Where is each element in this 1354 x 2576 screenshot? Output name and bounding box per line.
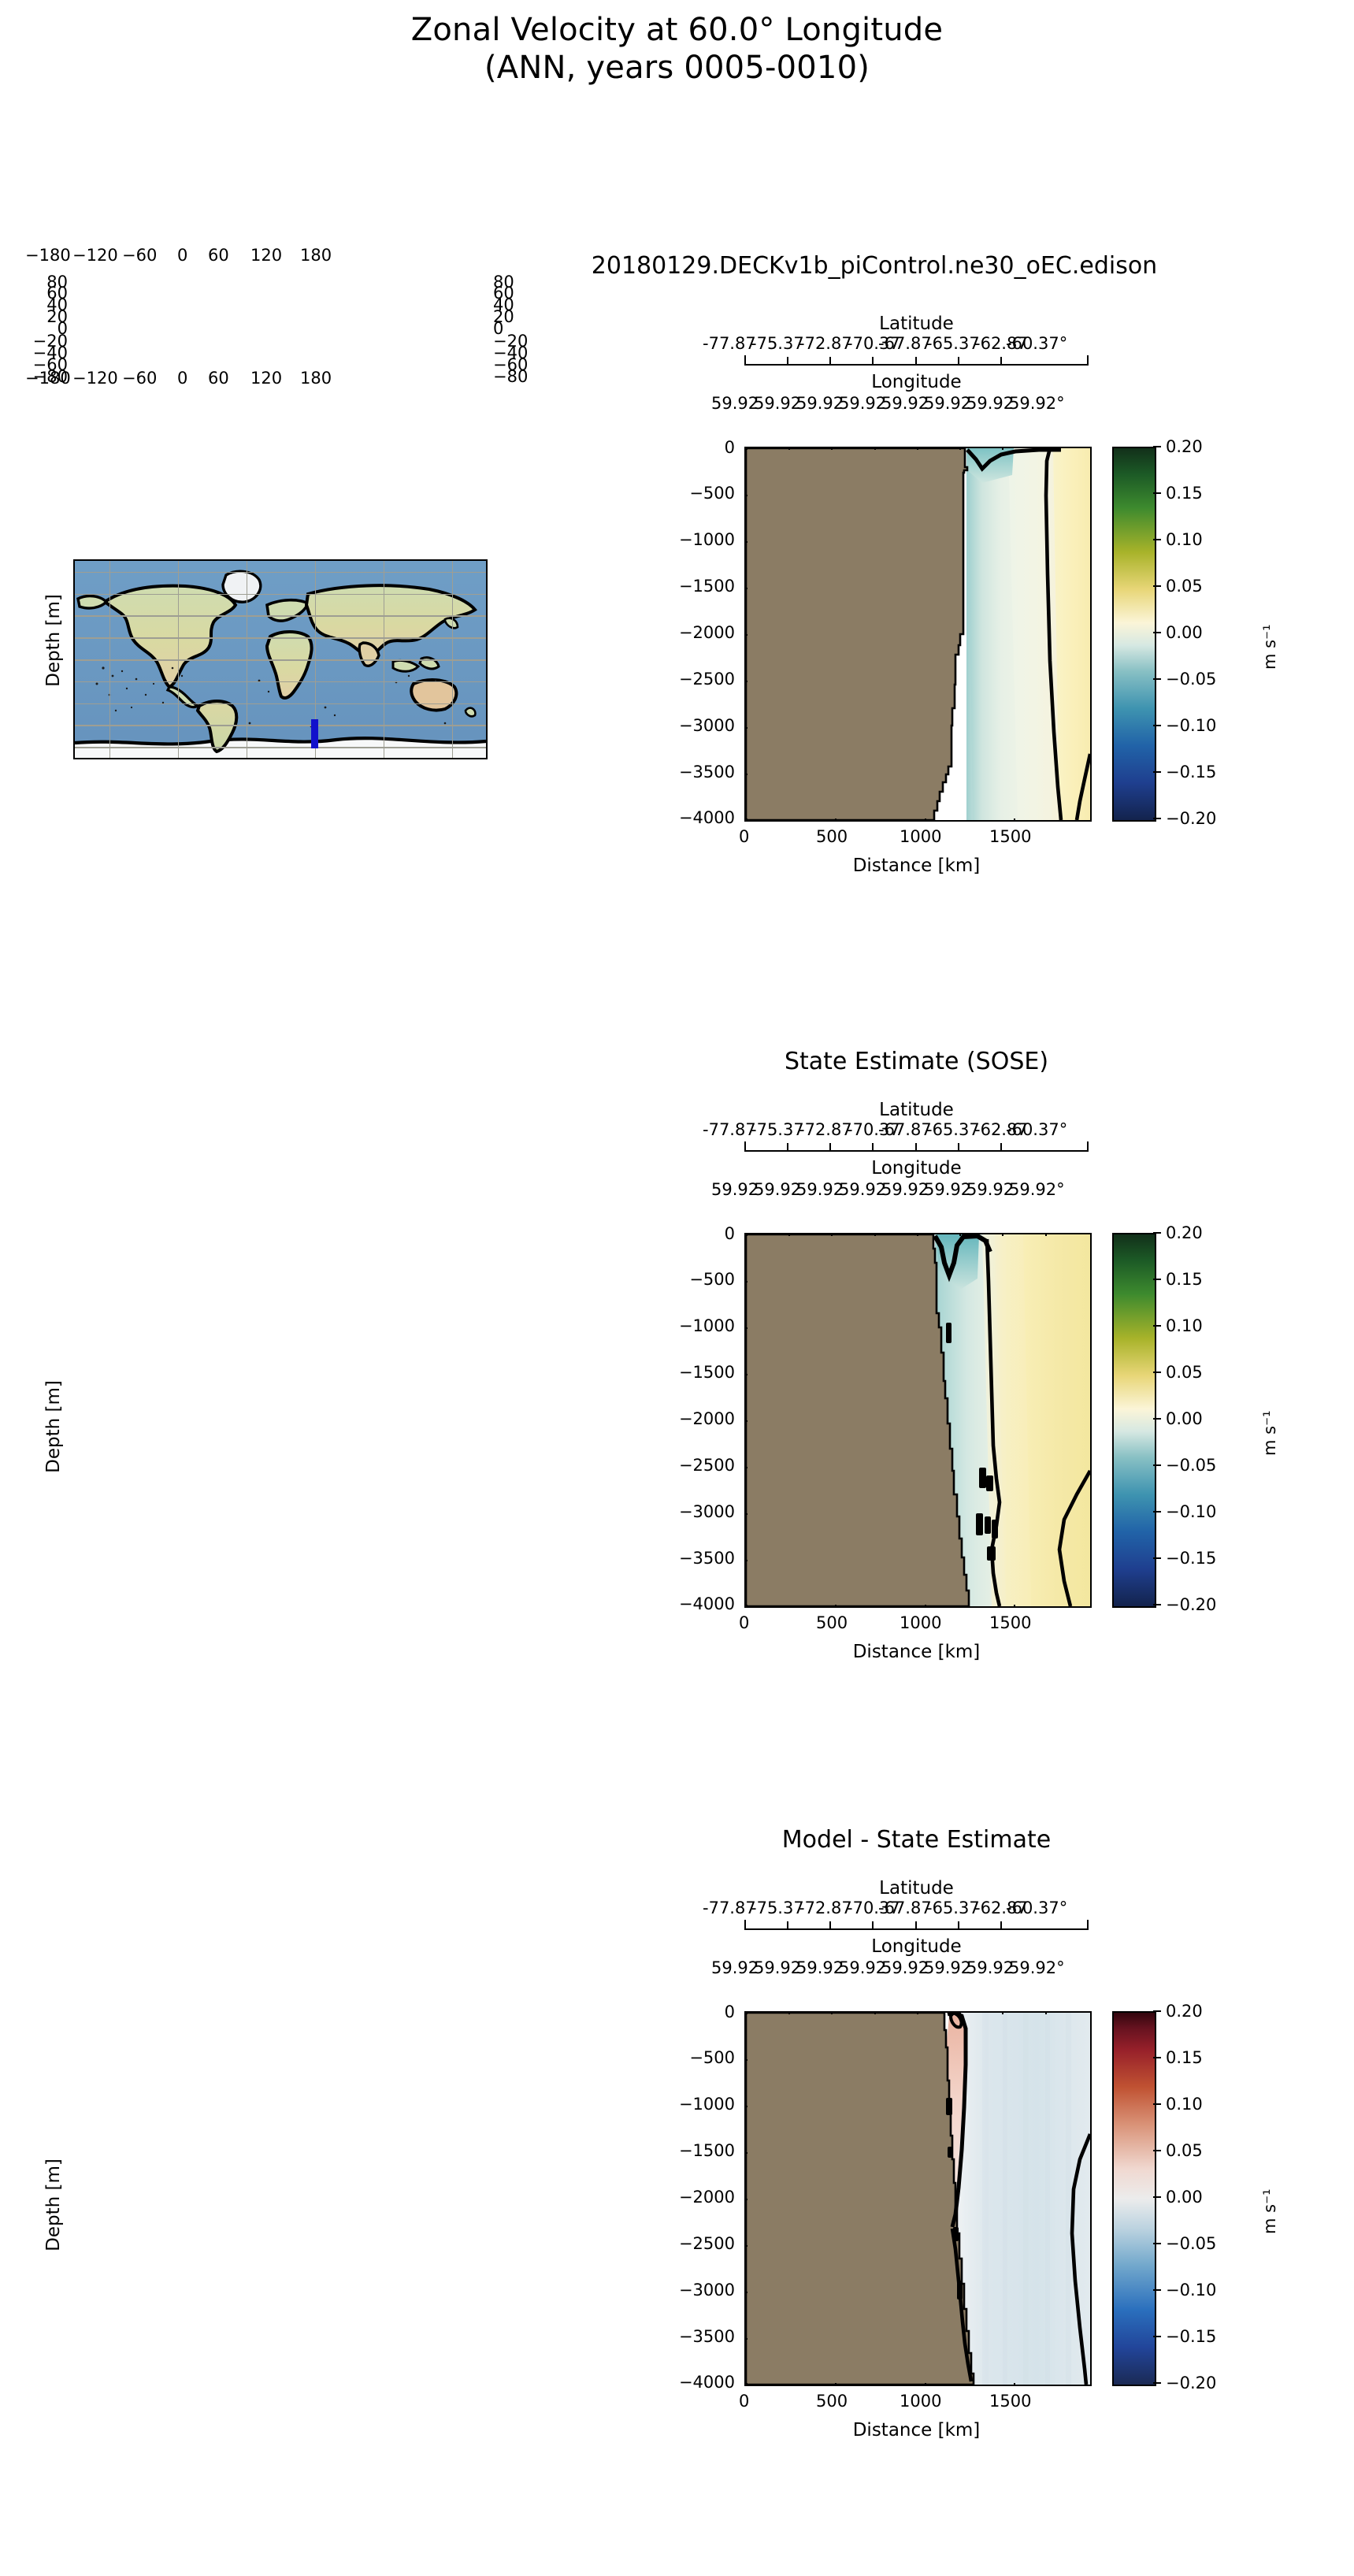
cb-bias-tick-8: −0.20 — [1166, 2374, 1216, 2392]
lon-tick-6: 59.92 — [966, 1180, 1014, 1199]
xtick — [1014, 818, 1015, 822]
ytick — [744, 634, 747, 636]
cb-bias-unit: m s⁻¹ — [1260, 2188, 1279, 2234]
distance-tick-3: 1500 — [989, 2392, 1031, 2411]
xtick-top — [788, 2011, 790, 2014]
depth-tick-7: −3500 — [664, 2327, 735, 2346]
map-gridline-lat — [75, 572, 486, 573]
depth-tick-7: −3500 — [664, 1549, 735, 1568]
distance-tick-2: 1000 — [900, 2392, 941, 2411]
ytick — [744, 1420, 747, 1422]
lat-tick-0: -77.87 — [703, 334, 756, 353]
xtick-top — [746, 447, 747, 450]
lon-tick-5: 59.92 — [924, 394, 971, 413]
cb-model-tick-8: −0.20 — [1166, 809, 1216, 828]
map-xtick-4: 60 — [208, 246, 229, 265]
lat-tick-4: -67.87 — [878, 1120, 932, 1139]
panel-model-colorbar[interactable] — [1112, 447, 1156, 822]
xtick-top — [917, 2011, 918, 2014]
xtick — [746, 818, 747, 822]
xtick — [835, 2383, 837, 2386]
figure-suptitle-line1: Zonal Velocity at 60.0° Longitude — [0, 11, 1354, 49]
map-ytick-right-8: −80 — [493, 367, 528, 386]
xtick — [746, 2383, 747, 2386]
map-xtick-bottom-5: 120 — [250, 369, 282, 388]
cb-sose-tick-6: −0.10 — [1166, 1502, 1216, 1521]
map-gridline-lat — [75, 703, 486, 705]
ytick — [744, 2292, 747, 2293]
depth-tick-1: −500 — [664, 1270, 735, 1289]
cb-bias-tick-1: 0.15 — [1166, 2048, 1203, 2067]
panel-sose-longitude-axis-label: Longitude — [744, 1158, 1089, 1179]
cb-sose-tick-1: 0.15 — [1166, 1270, 1203, 1289]
ytick — [744, 2338, 747, 2340]
map-xtick-bottom-4: 60 — [208, 369, 229, 388]
panel-bias-xlabel: Distance [km] — [744, 2420, 1089, 2441]
xtick-top — [831, 447, 833, 450]
cb-bias-tick-2: 0.10 — [1166, 2095, 1203, 2114]
panel-sose-field — [746, 1234, 1090, 1606]
cb-sose-tick-7: −0.15 — [1166, 1549, 1216, 1568]
xtick — [1014, 1605, 1015, 1608]
map-xtick-5: 120 — [250, 246, 282, 265]
cb-model-unit: m s⁻¹ — [1260, 624, 1279, 670]
lat-tick-5: -65.37 — [926, 1899, 980, 1917]
ytick — [744, 774, 747, 775]
cb-model-tick-7: −0.15 — [1166, 763, 1216, 781]
xtick — [925, 818, 926, 822]
panel-bias-plot[interactable] — [744, 2011, 1092, 2386]
map-gridline-lat — [75, 637, 486, 639]
panel-sose-xlabel: Distance [km] — [744, 1642, 1089, 1662]
depth-tick-0: 0 — [664, 2003, 735, 2021]
lon-tick-5: 59.92 — [924, 1958, 971, 1977]
panel-bias-ylabel: Depth [m] — [43, 2110, 64, 2299]
ytick — [744, 1513, 747, 1515]
map-xtick-2: −60 — [122, 246, 157, 265]
panel-sose-colorbar[interactable] — [1112, 1233, 1156, 1608]
depth-tick-4: −2000 — [664, 2188, 735, 2207]
panel-bias-field — [746, 2013, 1090, 2385]
xtick — [835, 1605, 837, 1608]
depth-tick-5: −2500 — [664, 1456, 735, 1475]
panel-model-ylabel: Depth [m] — [43, 546, 64, 735]
lon-tick-4: 59.92 — [881, 394, 929, 413]
lat-tick-5: -65.37 — [926, 1120, 980, 1139]
distance-tick-1: 500 — [816, 827, 848, 846]
panel-bias-latitude-axis-line — [744, 1928, 1089, 1930]
cb-model-tick-3: 0.05 — [1166, 577, 1203, 596]
cb-sose-tick-0: 0.20 — [1166, 1223, 1203, 1242]
panel-model-plot[interactable] — [744, 447, 1092, 822]
depth-tick-4: −2000 — [664, 1409, 735, 1428]
ytick — [744, 1467, 747, 1468]
depth-tick-0: 0 — [664, 1224, 735, 1243]
lat-tick-7: -60.37° — [1006, 1120, 1067, 1139]
depth-tick-6: −3000 — [664, 716, 735, 735]
lon-tick-6: 59.92 — [966, 1958, 1014, 1977]
cb-model-tick-0: 0.20 — [1166, 437, 1203, 456]
panel-sose-latitude-axis-label: Latitude — [744, 1100, 1089, 1120]
cb-model-tick-5: −0.05 — [1166, 670, 1216, 689]
cb-model-tick-2: 0.10 — [1166, 530, 1203, 549]
depth-tick-1: −500 — [664, 2048, 735, 2067]
ytick — [744, 681, 747, 682]
lon-tick-2: 59.92 — [796, 1180, 844, 1199]
xtick-top — [1045, 447, 1047, 450]
distance-tick-0: 0 — [739, 827, 749, 846]
depth-tick-6: −3000 — [664, 2281, 735, 2299]
map-gridline-lat — [75, 681, 486, 683]
panel-sose-latitude-axis-line — [744, 1150, 1089, 1152]
lat-tick-1: -75.37 — [751, 334, 804, 353]
lon-tick-3: 59.92 — [839, 1180, 886, 1199]
panel-model-xlabel: Distance [km] — [744, 856, 1089, 876]
depth-tick-6: −3000 — [664, 1502, 735, 1521]
lat-tick-0: -77.87 — [703, 1120, 756, 1139]
cb-bias-tick-5: −0.05 — [1166, 2234, 1216, 2253]
ytick — [744, 2199, 747, 2200]
map-gridline-lat — [75, 659, 486, 661]
depth-tick-4: −2000 — [664, 623, 735, 642]
lon-tick-0: 59.92 — [711, 1180, 759, 1199]
panel-bias-latitude-axis-label: Latitude — [744, 1878, 1089, 1899]
depth-tick-2: −1000 — [664, 530, 735, 549]
xtick — [925, 2383, 926, 2386]
lon-tick-3: 59.92 — [839, 1958, 886, 1977]
lon-tick-7: 59.92° — [1009, 394, 1065, 413]
cb-sose-tick-2: 0.10 — [1166, 1316, 1203, 1335]
cb-sose-tick-4: 0.00 — [1166, 1409, 1203, 1428]
lat-tick-2: -72.87 — [799, 1120, 852, 1139]
cb-model-tick-4: 0.00 — [1166, 623, 1203, 642]
figure-suptitle-line2: (ANN, years 0005-0010) — [0, 49, 1354, 87]
distance-tick-3: 1500 — [989, 827, 1031, 846]
lon-tick-4: 59.92 — [881, 1180, 929, 1199]
panel-model-longitude-axis-label: Longitude — [744, 372, 1089, 392]
map-xtick-bottom-3: 0 — [177, 369, 187, 388]
lat-tick-1: -75.37 — [751, 1899, 804, 1917]
map-xtick-bottom-2: −60 — [122, 369, 157, 388]
xtick-top — [917, 447, 918, 450]
distance-tick-0: 0 — [739, 2392, 749, 2411]
xtick-top — [959, 447, 961, 450]
ytick — [744, 588, 747, 589]
lon-tick-2: 59.92 — [796, 394, 844, 413]
xtick-top — [1002, 2011, 1003, 2014]
map-xtick-6: 180 — [300, 246, 332, 265]
lat-tick-2: -72.87 — [799, 1899, 852, 1917]
distance-tick-1: 500 — [816, 2392, 848, 2411]
map-gridline-lat — [75, 594, 486, 596]
ytick — [744, 2106, 747, 2107]
panel-model-latitude-axis-line — [744, 364, 1089, 366]
xtick — [1014, 2383, 1015, 2386]
lon-tick-1: 59.92 — [754, 1180, 801, 1199]
map-gridline-lat — [75, 725, 486, 726]
ytick — [744, 727, 747, 729]
lat-tick-0: -77.87 — [703, 1899, 756, 1917]
xtick-top — [874, 447, 876, 450]
lat-tick-7: -60.37° — [1006, 334, 1067, 353]
depth-tick-2: −1000 — [664, 2095, 735, 2114]
lon-tick-1: 59.92 — [754, 394, 801, 413]
transect-marker — [311, 719, 318, 748]
panel-sose-plot[interactable] — [744, 1233, 1092, 1608]
ytick — [744, 1560, 747, 1561]
world-map[interactable] — [73, 559, 488, 759]
map-gridline-lat — [75, 615, 486, 617]
xtick-top — [1045, 2011, 1047, 2014]
depth-tick-8: −4000 — [664, 808, 735, 827]
panel-bias-colorbar[interactable] — [1112, 2011, 1156, 2386]
ytick — [744, 541, 747, 543]
ytick — [744, 2152, 747, 2154]
lon-tick-3: 59.92 — [839, 394, 886, 413]
panel-bias-longitude-axis-label: Longitude — [744, 1936, 1089, 1957]
panel-model-latitude-axis-label: Latitude — [744, 314, 1089, 334]
lat-tick-1: -75.37 — [751, 1120, 804, 1139]
xtick-top — [788, 1233, 790, 1236]
cb-sose-tick-8: −0.20 — [1166, 1595, 1216, 1614]
xtick-top — [1045, 1233, 1047, 1236]
xtick-top — [959, 2011, 961, 2014]
ytick — [744, 1327, 747, 1329]
panel-sose-ylabel: Depth [m] — [43, 1332, 64, 1521]
panel-bias-title: Model - State Estimate — [630, 1826, 1203, 1854]
cb-model-tick-6: −0.10 — [1166, 716, 1216, 735]
panel-model-field — [746, 448, 1090, 820]
depth-tick-5: −2500 — [664, 670, 735, 689]
depth-tick-5: −2500 — [664, 2234, 735, 2253]
lat-tick-5: -65.37 — [926, 334, 980, 353]
depth-tick-8: −4000 — [664, 2373, 735, 2392]
lon-tick-0: 59.92 — [711, 1958, 759, 1977]
lon-tick-6: 59.92 — [966, 394, 1014, 413]
lon-tick-0: 59.92 — [711, 394, 759, 413]
ytick — [744, 1374, 747, 1375]
distance-tick-2: 1000 — [900, 827, 941, 846]
xtick-top — [959, 1233, 961, 1236]
cb-bias-tick-4: 0.00 — [1166, 2188, 1203, 2207]
lat-tick-4: -67.87 — [878, 334, 932, 353]
depth-tick-3: −1500 — [664, 577, 735, 596]
distance-tick-3: 1500 — [989, 1613, 1031, 1632]
distance-tick-0: 0 — [739, 1613, 749, 1632]
lon-tick-7: 59.92° — [1009, 1180, 1065, 1199]
depth-tick-7: −3500 — [664, 763, 735, 781]
panel-model-title: 20180129.DECKv1b_piControl.ne30_oEC.edis… — [441, 252, 1308, 280]
map-xtick-bottom-6: 180 — [300, 369, 332, 388]
lon-tick-5: 59.92 — [924, 1180, 971, 1199]
depth-tick-3: −1500 — [664, 2141, 735, 2160]
depth-tick-1: −500 — [664, 484, 735, 503]
xtick-top — [874, 1233, 876, 1236]
lat-tick-2: -72.87 — [799, 334, 852, 353]
cb-bias-tick-0: 0.20 — [1166, 2002, 1203, 2021]
lat-tick-7: -60.37° — [1006, 1899, 1067, 1917]
xtick — [925, 1605, 926, 1608]
map-gridline-lat — [75, 747, 486, 748]
map-xtick-bottom-1: −120 — [72, 369, 118, 388]
depth-tick-3: −1500 — [664, 1363, 735, 1382]
cb-sose-unit: m s⁻¹ — [1260, 1410, 1279, 1456]
cb-bias-tick-3: 0.05 — [1166, 2141, 1203, 2160]
map-ytick-left-8: −80 — [32, 367, 68, 386]
xtick-top — [746, 2011, 747, 2014]
lon-tick-4: 59.92 — [881, 1958, 929, 1977]
map-xtick-1: −120 — [72, 246, 118, 265]
lon-tick-1: 59.92 — [754, 1958, 801, 1977]
cb-model-tick-1: 0.15 — [1166, 484, 1203, 503]
lon-tick-2: 59.92 — [796, 1958, 844, 1977]
xtick-top — [917, 1233, 918, 1236]
depth-tick-2: −1000 — [664, 1316, 735, 1335]
xtick-top — [831, 1233, 833, 1236]
depth-tick-0: 0 — [664, 438, 735, 457]
panel-sose-title: State Estimate (SOSE) — [630, 1048, 1203, 1075]
map-xtick-3: 0 — [177, 246, 187, 265]
cb-sose-tick-3: 0.05 — [1166, 1363, 1203, 1382]
cb-sose-tick-5: −0.05 — [1166, 1456, 1216, 1475]
lat-tick-4: -67.87 — [878, 1899, 932, 1917]
cb-bias-tick-6: −0.10 — [1166, 2281, 1216, 2299]
distance-tick-2: 1000 — [900, 1613, 941, 1632]
map-xtick-0: −180 — [25, 246, 71, 265]
lon-tick-7: 59.92° — [1009, 1958, 1065, 1977]
xtick-top — [746, 1233, 747, 1236]
ytick — [744, 2245, 747, 2247]
xtick-top — [788, 447, 790, 450]
ytick — [744, 495, 747, 496]
cb-bias-tick-7: −0.15 — [1166, 2327, 1216, 2346]
xtick-top — [1002, 1233, 1003, 1236]
xtick — [835, 818, 837, 822]
figure-canvas: Zonal Velocity at 60.0° Longitude (ANN, … — [0, 0, 1354, 2576]
xtick — [746, 1605, 747, 1608]
ytick — [744, 1281, 747, 1282]
xtick-top — [831, 2011, 833, 2014]
xtick-top — [1002, 447, 1003, 450]
xtick-top — [874, 2011, 876, 2014]
distance-tick-1: 500 — [816, 1613, 848, 1632]
ytick — [744, 2059, 747, 2061]
depth-tick-8: −4000 — [664, 1594, 735, 1613]
